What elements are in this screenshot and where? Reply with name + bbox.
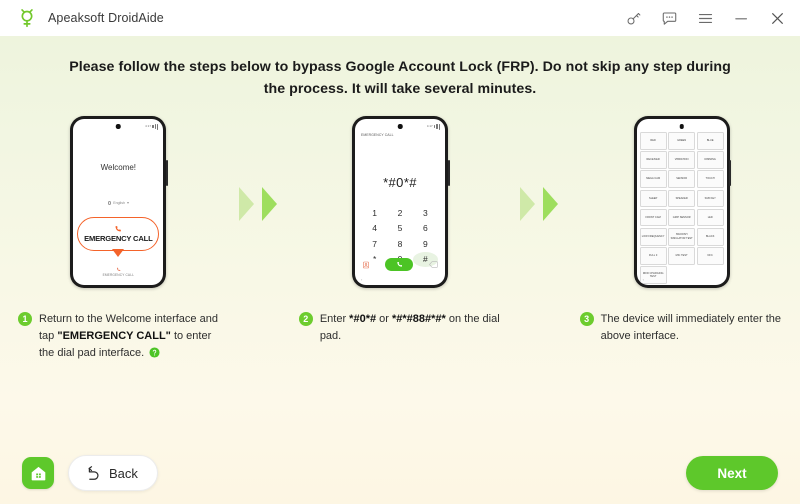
test-cell-empty (697, 266, 724, 284)
step-number-badge: 2 (299, 312, 313, 326)
page-headline: Please follow the steps below to bypass … (60, 56, 740, 100)
test-cell[interactable]: FULL 0 (640, 247, 667, 265)
menu-icon[interactable] (696, 9, 714, 27)
dial-display: *#0*# (355, 175, 445, 190)
camera-notch-icon (679, 124, 684, 129)
footer-bar: Back Next (0, 442, 800, 504)
app-window: Apeaksoft DroidAide (0, 0, 800, 504)
step-text: The device will immediately enter the ab… (601, 311, 788, 345)
back-label: Back (109, 466, 138, 481)
help-circle-icon[interactable] (149, 347, 160, 358)
test-cell[interactable]: SPEAKER (668, 190, 695, 208)
phone-screen-dialpad: 4:17 EMERGENCY CALL *#0*# 1 2 3 (355, 119, 445, 285)
phone-screen-welcome: 4:17 Welcome! English (73, 119, 163, 285)
globe-icon (108, 201, 112, 205)
status-time: 4:17 (145, 125, 151, 128)
illustration-testmenu: RED GREEN BLUE RECEIVER VIBRATION DIMMIN… (563, 116, 800, 288)
key-5[interactable]: 5 (387, 221, 412, 237)
test-cell[interactable]: RECEIVER (640, 151, 667, 169)
test-cell[interactable]: LED (697, 209, 724, 227)
double-chevron-right-icon (237, 116, 282, 291)
key-8[interactable]: 8 (387, 236, 412, 252)
test-cell[interactable]: SWOOSH SIMULATOR TEST (668, 228, 695, 246)
call-button[interactable] (385, 258, 413, 271)
step-code-1: *#0*# (349, 313, 376, 325)
nav-back-icon[interactable]: ‹ (361, 277, 362, 282)
language-selector[interactable]: English (73, 201, 163, 205)
battery-icon (157, 124, 158, 130)
illustration-welcome: 4:17 Welcome! English (0, 116, 237, 288)
status-time: 4:17 (427, 125, 433, 128)
test-cell[interactable]: SUB KEY (697, 190, 724, 208)
test-cell[interactable]: GREEN (668, 132, 695, 150)
key-icon[interactable] (624, 9, 642, 27)
content-canvas: Please follow the steps below to bypass … (0, 36, 800, 504)
home-button[interactable] (22, 457, 54, 489)
key-1[interactable]: 1 (362, 205, 387, 221)
illustration-row: 4:17 Welcome! English (0, 116, 800, 291)
phone-frame-testmenu: RED GREEN BLUE RECEIVER VIBRATION DIMMIN… (634, 116, 730, 288)
wifi-icon (155, 124, 156, 129)
phone-handset-icon (114, 225, 122, 233)
key-7[interactable]: 7 (362, 236, 387, 252)
callout-pointer-icon (112, 249, 124, 257)
signal-icon (434, 125, 435, 128)
step-text: Enter *#0*# or *#*#88#*#* on the dial pa… (320, 311, 507, 345)
caption-spacer (238, 311, 280, 362)
phone-frame-dialpad: 4:17 EMERGENCY CALL *#0*# 1 2 3 (352, 116, 448, 288)
key-3[interactable]: 3 (413, 205, 438, 221)
step-caption-3: 3 The device will immediately enter the … (562, 311, 800, 362)
step-text: Return to the Welcome interface and tap … (39, 311, 226, 362)
test-cell-empty (668, 266, 695, 284)
status-right: 4:17 (427, 124, 440, 130)
signal-icon (152, 125, 153, 128)
close-icon[interactable] (768, 9, 786, 27)
app-title: Apeaksoft DroidAide (48, 11, 164, 25)
back-arrow-icon (84, 465, 101, 482)
test-cell[interactable]: RED (640, 132, 667, 150)
phone-screen-testmenu: RED GREEN BLUE RECEIVER VIBRATION DIMMIN… (637, 119, 727, 285)
app-brand: Apeaksoft DroidAide (16, 7, 164, 29)
minimize-icon[interactable] (732, 9, 750, 27)
test-cell[interactable]: MEGA CAM (640, 170, 667, 188)
key-4[interactable]: 4 (362, 221, 387, 237)
emergency-call-button[interactable]: EMERGENCY CALL (73, 267, 163, 278)
test-cell[interactable]: DIMMING (697, 151, 724, 169)
step-captions: 1 Return to the Welcome interface and ta… (0, 311, 800, 362)
window-controls (624, 9, 786, 27)
status-right: 4:17 (145, 124, 158, 130)
title-bar: Apeaksoft DroidAide (0, 0, 800, 36)
key-9[interactable]: 9 (413, 236, 438, 252)
test-cell[interactable]: VIBRATION (668, 151, 695, 169)
illustration-dialpad: 4:17 EMERGENCY CALL *#0*# 1 2 3 (282, 116, 519, 288)
test-cell[interactable]: NFC (697, 247, 724, 265)
status-bar: 4:17 (73, 122, 163, 131)
test-cell[interactable]: TOUCH (697, 170, 724, 188)
caption-spacer (519, 311, 561, 362)
language-label: English (113, 201, 125, 205)
next-button[interactable]: Next (686, 456, 778, 490)
key-2[interactable]: 2 (387, 205, 412, 221)
test-cell[interactable]: BLACK (697, 228, 724, 246)
test-cell[interactable]: GRIP SENSOR (668, 209, 695, 227)
test-cell[interactable]: SENSOR (668, 170, 695, 188)
step-caption-1: 1 Return to the Welcome interface and ta… (0, 311, 238, 362)
chevron-down-icon (127, 202, 129, 204)
test-cell[interactable]: BLUE (697, 132, 724, 150)
step-lead: Enter (320, 313, 346, 325)
key-6[interactable]: 6 (413, 221, 438, 237)
dialpad-header: EMERGENCY CALL (361, 133, 394, 137)
step-lead: The device will immediately enter the ab… (601, 313, 781, 342)
step-number-badge: 1 (18, 312, 32, 326)
hardware-test-grid: RED GREEN BLUE RECEIVER VIBRATION DIMMIN… (640, 132, 724, 276)
step-code-2: *#*#88#*#* (392, 313, 446, 325)
test-cell[interactable]: LOW FREQUENCY (640, 228, 667, 246)
step-number-badge: 3 (580, 312, 594, 326)
contacts-icon[interactable] (362, 261, 370, 269)
double-chevron-right-icon (518, 116, 563, 291)
wifi-icon (436, 124, 437, 129)
step-caption-2: 2 Enter *#0*# or *#*#88#*#* on the dial … (281, 311, 519, 362)
home-icon (29, 464, 48, 483)
emergency-call-callout: EMERGENCY CALL (77, 217, 159, 251)
test-cell[interactable]: FRONT CAM (640, 209, 667, 227)
emergency-call-label: EMERGENCY CALL (103, 273, 134, 277)
nav-back-icon[interactable]: ‹ (643, 277, 644, 282)
back-button[interactable]: Back (68, 455, 158, 491)
battery-icon (439, 124, 440, 130)
dialpad-actions (362, 258, 438, 271)
welcome-title: Welcome! (73, 163, 163, 172)
backspace-icon[interactable] (428, 261, 438, 268)
test-cell[interactable]: MIC TEST (668, 247, 695, 265)
droidaide-logo-icon (16, 7, 38, 29)
step-bold: "EMERGENCY CALL" (57, 330, 171, 342)
status-bar: 4:17 (355, 122, 445, 131)
callout-label: EMERGENCY CALL (84, 234, 152, 243)
step-mid: or (379, 313, 389, 325)
test-cell[interactable]: SLEEP (640, 190, 667, 208)
feedback-icon[interactable] (660, 9, 678, 27)
phone-frame-welcome: 4:17 Welcome! English (70, 116, 166, 288)
